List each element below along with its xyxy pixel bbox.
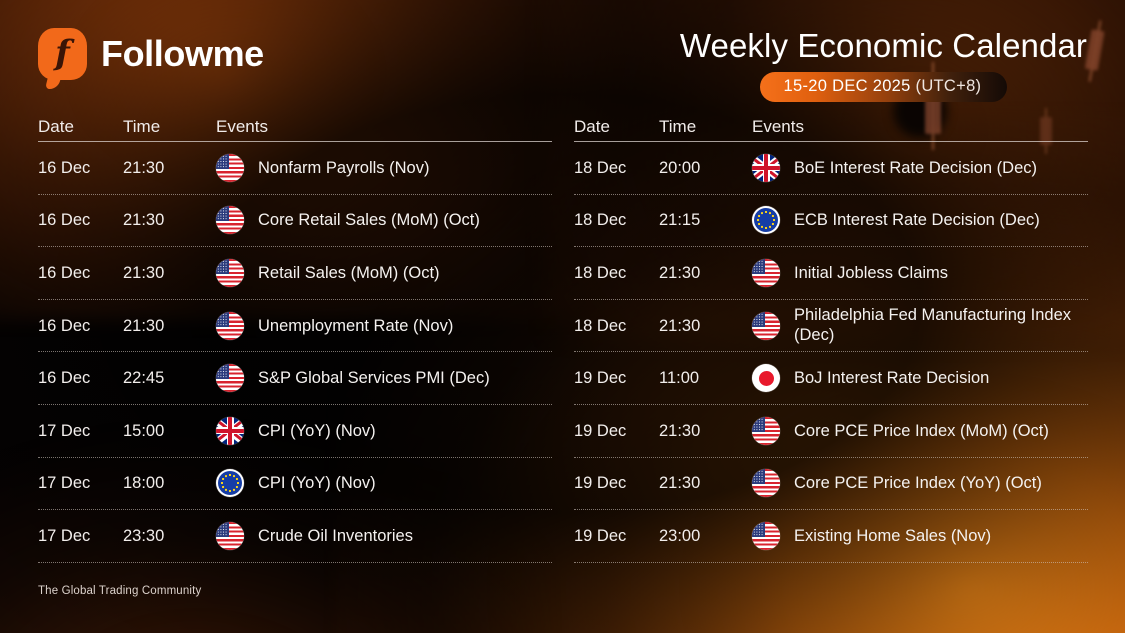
- row-event: CPI (YoY) (Nov): [216, 417, 552, 445]
- brand-name: Followme: [101, 33, 264, 75]
- row-date: 19 Dec: [574, 473, 659, 493]
- row-event: Initial Jobless Claims: [752, 259, 1088, 287]
- economic-calendar-page: f Followme Weekly Economic Calendar 15-2…: [0, 0, 1125, 633]
- row-date: 16 Dec: [38, 263, 123, 283]
- row-date: 16 Dec: [38, 316, 123, 336]
- row-event-label: CPI (YoY) (Nov): [258, 421, 376, 441]
- table-row[interactable]: 19 Dec 23:00 Existing Home Sales (Nov): [574, 510, 1088, 563]
- row-event: CPI (YoY) (Nov): [216, 469, 552, 497]
- footer-tagline: The Global Trading Community: [38, 585, 201, 597]
- row-event: Nonfarm Payrolls (Nov): [216, 154, 552, 182]
- row-date: 18 Dec: [574, 316, 659, 336]
- flag-eu-icon: [752, 206, 780, 234]
- row-date: 18 Dec: [574, 263, 659, 283]
- header-events: Events: [216, 117, 552, 137]
- row-time: 21:30: [659, 421, 752, 441]
- flag-us-icon: [752, 522, 780, 550]
- table-row[interactable]: 16 Dec 22:45 S&P Global Services PMI (De…: [38, 352, 552, 405]
- row-event-label: S&P Global Services PMI (Dec): [258, 368, 490, 388]
- table-row[interactable]: 19 Dec 21:30 Core PCE Price Index (MoM) …: [574, 405, 1088, 458]
- page-title: Weekly Economic Calendar: [680, 28, 1087, 64]
- row-event-label: Nonfarm Payrolls (Nov): [258, 158, 429, 178]
- row-event-label: Core PCE Price Index (YoY) (Oct): [794, 473, 1042, 493]
- row-date: 18 Dec: [574, 158, 659, 178]
- row-time: 21:30: [659, 263, 752, 283]
- date-range-text: 15-20 DEC 2025: [784, 77, 911, 95]
- row-event-label: Philadelphia Fed Manufacturing Index (De…: [794, 306, 1088, 345]
- table-row[interactable]: 17 Dec 18:00 CPI (YoY) (Nov): [38, 458, 552, 511]
- row-time: 21:30: [123, 263, 216, 283]
- row-time: 21:30: [123, 158, 216, 178]
- row-date: 17 Dec: [38, 526, 123, 546]
- flag-eu-icon: [216, 469, 244, 497]
- row-event-label: BoE Interest Rate Decision (Dec): [794, 158, 1037, 178]
- column-header-row-right: Date Time Events: [574, 112, 1088, 142]
- row-event-label: Unemployment Rate (Nov): [258, 316, 453, 336]
- table-row[interactable]: 16 Dec 21:30 Nonfarm Payrolls (Nov): [38, 142, 552, 195]
- table-row[interactable]: 16 Dec 21:30 Unemployment Rate (Nov): [38, 300, 552, 353]
- row-event-label: ECB Interest Rate Decision (Dec): [794, 210, 1040, 230]
- calendar-column-left: Date Time Events 16 Dec 21:30 Nonfarm Pa…: [38, 112, 552, 563]
- row-date: 19 Dec: [574, 526, 659, 546]
- row-time: 22:45: [123, 368, 216, 388]
- row-event-label: Core PCE Price Index (MoM) (Oct): [794, 421, 1049, 441]
- row-event-label: Initial Jobless Claims: [794, 263, 948, 283]
- row-time: 18:00: [123, 473, 216, 493]
- flag-us-icon: [752, 469, 780, 497]
- row-event-label: Existing Home Sales (Nov): [794, 526, 991, 546]
- row-time: 15:00: [123, 421, 216, 441]
- table-row[interactable]: 16 Dec 21:30 Retail Sales (MoM) (Oct): [38, 247, 552, 300]
- table-row[interactable]: 17 Dec 15:00 CPI (YoY) (Nov): [38, 405, 552, 458]
- row-date: 17 Dec: [38, 473, 123, 493]
- header-time: Time: [123, 117, 216, 137]
- table-row[interactable]: 18 Dec 21:30 Philadelphia Fed Manufactur…: [574, 300, 1088, 353]
- row-date: 19 Dec: [574, 368, 659, 388]
- row-date: 16 Dec: [38, 158, 123, 178]
- row-time: 21:30: [659, 316, 752, 336]
- row-event: Philadelphia Fed Manufacturing Index (De…: [752, 306, 1088, 345]
- row-event-label: Core Retail Sales (MoM) (Oct): [258, 210, 480, 230]
- calendar-column-right: Date Time Events 18 Dec 20:00 BoE Intere…: [574, 112, 1088, 563]
- row-time: 21:30: [659, 473, 752, 493]
- row-event: ECB Interest Rate Decision (Dec): [752, 206, 1088, 234]
- row-time: 23:30: [123, 526, 216, 546]
- row-event-label: Crude Oil Inventories: [258, 526, 413, 546]
- flag-us-icon: [216, 522, 244, 550]
- row-date: 19 Dec: [574, 421, 659, 441]
- row-time: 23:00: [659, 526, 752, 546]
- flag-us-icon: [752, 312, 780, 340]
- flag-jp-icon: [752, 364, 780, 392]
- flag-us-icon: [216, 364, 244, 392]
- title-block: Weekly Economic Calendar 15-20 DEC 2025 …: [680, 28, 1087, 102]
- row-event: Retail Sales (MoM) (Oct): [216, 259, 552, 287]
- table-row[interactable]: 16 Dec 21:30 Core Retail Sales (MoM) (Oc…: [38, 195, 552, 248]
- row-event-label: CPI (YoY) (Nov): [258, 473, 376, 493]
- date-range-badge: 15-20 DEC 2025 (UTC+8): [760, 72, 1008, 102]
- flag-gb-icon: [216, 417, 244, 445]
- row-event: Core Retail Sales (MoM) (Oct): [216, 206, 552, 234]
- table-row[interactable]: 17 Dec 23:30 Crude Oil Inventories: [38, 510, 552, 563]
- flag-us-icon: [216, 154, 244, 182]
- row-time: 11:00: [659, 368, 752, 388]
- row-event: BoJ Interest Rate Decision: [752, 364, 1088, 392]
- header-date: Date: [574, 117, 659, 137]
- table-row[interactable]: 18 Dec 20:00 BoE Interest Rate Decision …: [574, 142, 1088, 195]
- row-date: 16 Dec: [38, 210, 123, 230]
- row-time: 20:00: [659, 158, 752, 178]
- table-row[interactable]: 19 Dec 21:30 Core PCE Price Index (YoY) …: [574, 458, 1088, 511]
- row-time: 21:30: [123, 210, 216, 230]
- brand-logo[interactable]: f Followme: [38, 28, 264, 80]
- flag-us-icon: [216, 312, 244, 340]
- timezone-text: (UTC+8): [916, 77, 982, 95]
- row-event: Core PCE Price Index (YoY) (Oct): [752, 469, 1088, 497]
- table-row[interactable]: 18 Dec 21:15 ECB Interest Rate Decision …: [574, 195, 1088, 248]
- flag-us-icon: [752, 417, 780, 445]
- row-date: 17 Dec: [38, 421, 123, 441]
- row-date: 18 Dec: [574, 210, 659, 230]
- column-header-row-left: Date Time Events: [38, 112, 552, 142]
- row-time: 21:30: [123, 316, 216, 336]
- followme-f-logo-icon: f: [38, 28, 87, 80]
- flag-us-icon: [216, 259, 244, 287]
- row-event: BoE Interest Rate Decision (Dec): [752, 154, 1088, 182]
- table-row[interactable]: 18 Dec 21:30 Initial Jobless Claims: [574, 247, 1088, 300]
- row-date: 16 Dec: [38, 368, 123, 388]
- logo-letter-f: f: [38, 28, 87, 80]
- row-event-label: Retail Sales (MoM) (Oct): [258, 263, 440, 283]
- header-events: Events: [752, 117, 1088, 137]
- row-event: Crude Oil Inventories: [216, 522, 552, 550]
- row-event-label: BoJ Interest Rate Decision: [794, 368, 989, 388]
- row-event: Unemployment Rate (Nov): [216, 312, 552, 340]
- row-time: 21:15: [659, 210, 752, 230]
- header-date: Date: [38, 117, 123, 137]
- flag-us-icon: [216, 206, 244, 234]
- page-header: f Followme Weekly Economic Calendar 15-2…: [0, 0, 1125, 112]
- row-event: Existing Home Sales (Nov): [752, 522, 1088, 550]
- row-event: Core PCE Price Index (MoM) (Oct): [752, 417, 1088, 445]
- table-row[interactable]: 19 Dec 11:00 BoJ Interest Rate Decision: [574, 352, 1088, 405]
- row-event: S&P Global Services PMI (Dec): [216, 364, 552, 392]
- flag-us-icon: [752, 259, 780, 287]
- flag-gb-icon: [752, 154, 780, 182]
- header-time: Time: [659, 117, 752, 137]
